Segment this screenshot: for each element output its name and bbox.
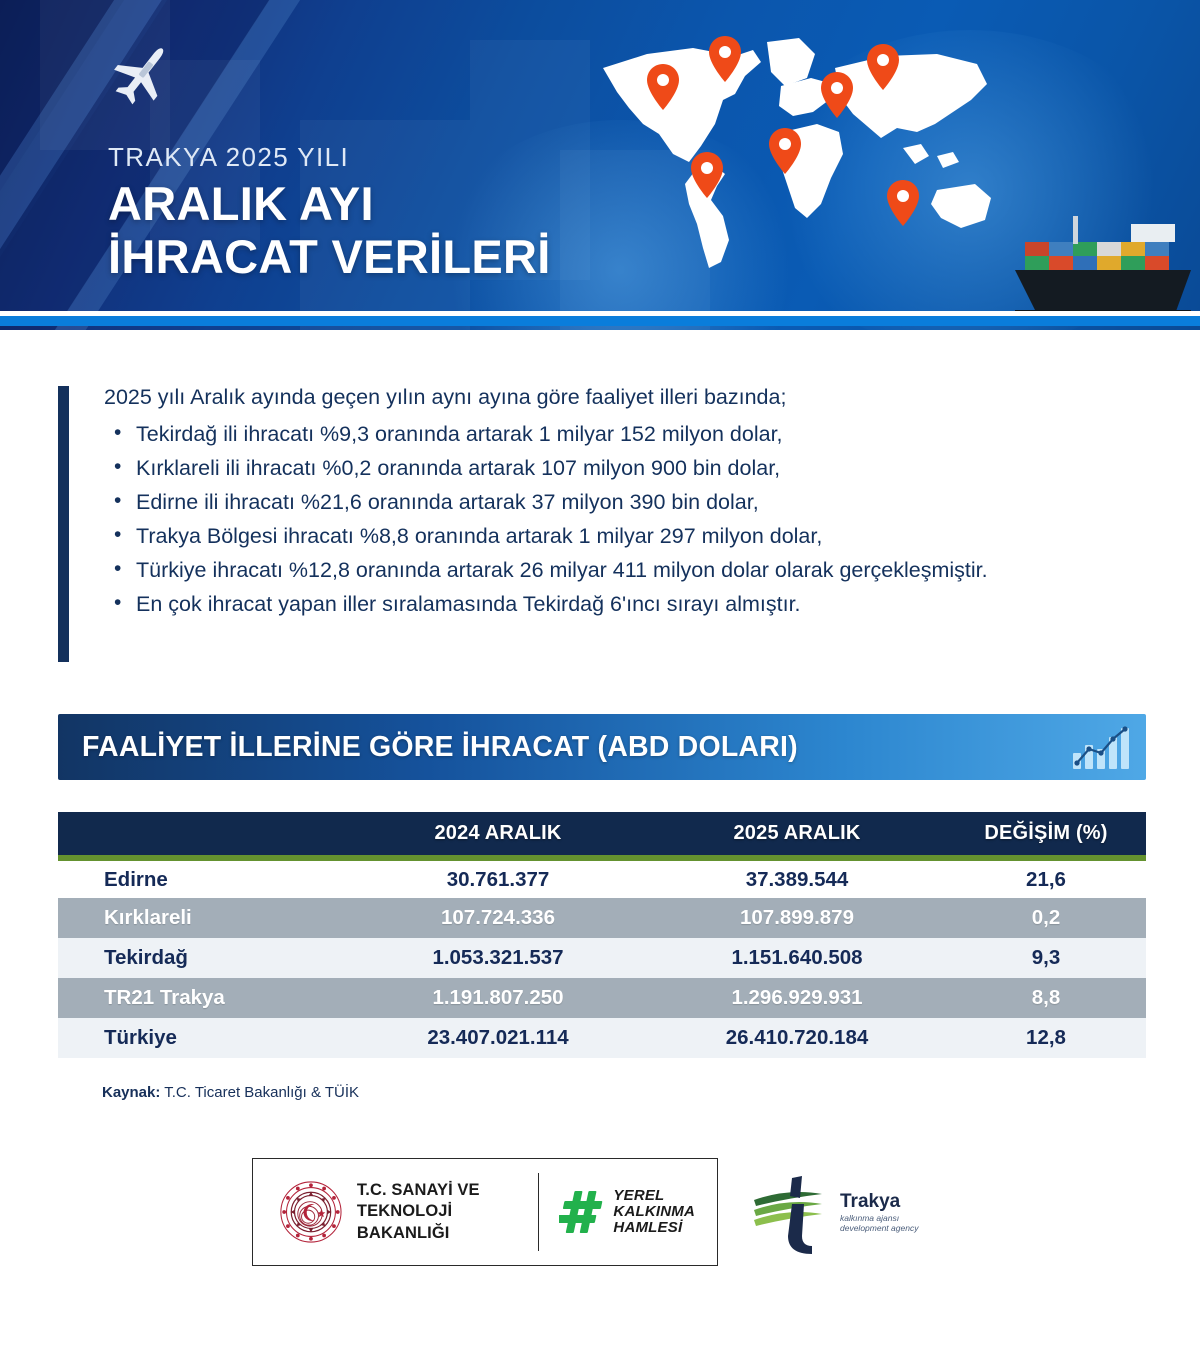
table-row: Tekirdağ 1.053.321.537 1.151.640.508 9,3 [58,938,1146,978]
ministry-name-line-2: TEKNOLOJİ BAKANLIĞI [357,1201,538,1243]
banner-title-line-1: ARALIK AYI [108,177,551,230]
cell-region: TR21 Trakya [58,978,348,1018]
banner-text-group: TRAKYA 2025 YILI ARALIK AYI İHRACAT VERİ… [108,143,551,283]
bar-chart-growth-icon [1070,723,1132,771]
cell-change: 9,3 [946,938,1146,978]
agency-name: Trakya [840,1191,918,1213]
trakya-mark-icon [748,1164,844,1260]
world-map-icon [585,28,1055,278]
cell-region: Edirne [58,858,348,898]
cell-2024: 23.407.021.114 [348,1018,648,1058]
agency-sub-en: development agency [840,1223,918,1233]
table-title-bar: FAALİYET İLLERİNE GÖRE İHRACAT (ABD DOLA… [58,714,1146,780]
header-banner: TRAKYA 2025 YILI ARALIK AYI İHRACAT VERİ… [0,0,1200,330]
ministry-name-line-1: T.C. SANAYİ VE [357,1180,538,1201]
list-item: En çok ihracat yapan iller sıralamasında… [104,588,1058,620]
table-title-text: FAALİYET İLLERİNE GÖRE İHRACAT (ABD DOLA… [82,731,1070,764]
column-header-change: DEĞİŞİM (%) [946,812,1146,858]
hashtag-line-3: HAMLESİ [613,1220,695,1236]
table-row: Kırklareli 107.724.336 107.899.879 0,2 [58,898,1146,938]
cell-2025: 107.899.879 [648,898,946,938]
cell-2024: 1.053.321.537 [348,938,648,978]
cell-region: Kırklareli [58,898,348,938]
table-row: TR21 Trakya 1.191.807.250 1.296.929.931 … [58,978,1146,1018]
table-row: Türkiye 23.407.021.114 26.410.720.184 12… [58,1018,1146,1058]
agency-sub-tr: kalkınma ajansı [840,1213,918,1223]
list-item: Tekirdağ ili ihracatı %9,3 oranında arta… [104,418,1058,450]
intro-section: 2025 yılı Aralık ayında geçen yılın aynı… [58,382,1058,622]
list-item: Türkiye ihracatı %12,8 oranında artarak … [104,554,1058,586]
table-body: Edirne 30.761.377 37.389.544 21,6 Kırkla… [58,858,1146,1058]
airplane-icon [100,38,186,114]
source-text: T.C. Ticaret Bakanlığı & TÜİK [160,1084,359,1101]
column-header-2025: 2025 ARALIK [648,812,946,858]
ministry-name: T.C. SANAYİ VE TEKNOLOJİ BAKANLIĞI [357,1180,538,1243]
yerel-kalkinma-hamlesi-logo: YEREL KALKINMA HAMLESİ [539,1188,717,1237]
table-header: 2024 ARALIK 2025 ARALIK DEĞİŞİM (%) [58,812,1146,858]
hashtag-slogan: YEREL KALKINMA HAMLESİ [613,1188,695,1237]
banner-kicker: TRAKYA 2025 YILI [108,143,551,172]
cell-2025: 1.296.929.931 [648,978,946,1018]
list-item: Edirne ili ihracatı %21,6 oranında artar… [104,486,1058,518]
list-item: Kırklareli ili ihracatı %0,2 oranında ar… [104,452,1058,484]
table-header-row: 2024 ARALIK 2025 ARALIK DEĞİŞİM (%) [58,812,1146,858]
source-label: Kaynak: [102,1084,160,1101]
column-header-2024: 2024 ARALIK [348,812,648,858]
banner-blue-rule [0,316,1200,326]
cell-change: 12,8 [946,1018,1146,1058]
cell-2024: 107.724.336 [348,898,648,938]
banner-title-line-2: İHRACAT VERİLERİ [108,230,551,283]
intro-lead-text: 2025 yılı Aralık ayında geçen yılın aynı… [104,382,1058,413]
ministry-logo-box: T.C. SANAYİ VE TEKNOLOJİ BAKANLIĞI YEREL [252,1158,718,1266]
list-item: Trakya Bölgesi ihracatı %8,8 oranında ar… [104,520,1058,552]
cell-region: Tekirdağ [58,938,348,978]
cell-2024: 1.191.807.250 [348,978,648,1018]
footer-logo-row: T.C. SANAYİ VE TEKNOLOJİ BAKANLIĞI YEREL [0,1158,1200,1266]
column-header-region [58,812,348,858]
intro-bullet-list: Tekirdağ ili ihracatı %9,3 oranında arta… [104,418,1058,620]
cell-change: 21,6 [946,858,1146,898]
trakya-development-agency-logo: Trakya kalkınma ajansı development agenc… [748,1160,948,1264]
turkish-ministry-emblem-icon [279,1178,343,1246]
cell-change: 0,2 [946,898,1146,938]
infographic-page: TRAKYA 2025 YILI ARALIK AYI İHRACAT VERİ… [0,0,1200,1368]
decorative-stripe [0,0,34,330]
hashtag-icon [559,1189,607,1235]
cell-2025: 26.410.720.184 [648,1018,946,1058]
cell-2024: 30.761.377 [348,858,648,898]
ministry-logo: T.C. SANAYİ VE TEKNOLOJİ BAKANLIĞI [253,1178,538,1246]
cell-2025: 1.151.640.508 [648,938,946,978]
source-note: Kaynak: T.C. Ticaret Bakanlığı & TÜİK [102,1084,359,1101]
cell-region: Türkiye [58,1018,348,1058]
trakya-wordmark: Trakya kalkınma ajansı development agenc… [840,1191,918,1234]
export-data-table: 2024 ARALIK 2025 ARALIK DEĞİŞİM (%) Edir… [58,812,1146,1058]
cell-change: 8,8 [946,978,1146,1018]
hashtag-line-2: KALKINMA [613,1204,695,1220]
table-row: Edirne 30.761.377 37.389.544 21,6 [58,858,1146,898]
hashtag-line-1: YEREL [613,1188,695,1204]
cell-2025: 37.389.544 [648,858,946,898]
intro-accent-bar [58,386,69,662]
